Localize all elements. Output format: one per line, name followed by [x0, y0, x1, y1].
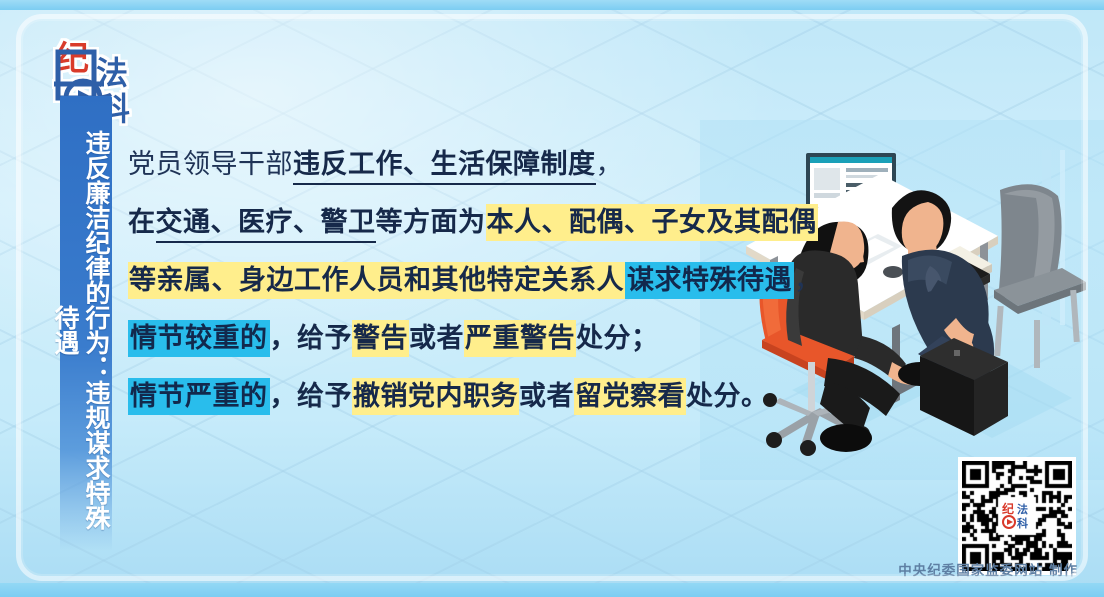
text-segment: 撤销党内职务 — [352, 378, 519, 415]
text-line: 党员领导干部违反工作、生活保障制度， — [128, 136, 828, 194]
vertical-banner-text: 违反廉洁纪律的行为：违规谋求特殊待遇 — [60, 130, 112, 530]
text-segment: 本人、配偶、子女及其配偶 — [486, 204, 818, 241]
text-segment: 处分。 — [686, 381, 769, 412]
text-segment: 情节严重的 — [128, 378, 270, 415]
text-segment: 等方面为 — [376, 207, 486, 238]
text-segment: ，给予 — [270, 323, 353, 354]
text-line: 情节较重的，给予警告或者严重警告处分； — [128, 310, 828, 368]
text-segment: 在 — [128, 207, 156, 238]
footer-credit: 中央纪委国家监委网站 制作 — [898, 559, 1078, 579]
text-segment: 违反工作、生活保障制度 — [293, 149, 596, 185]
svg-text:法: 法 — [1017, 502, 1028, 516]
text-segment: 党员领导干部 — [128, 149, 293, 180]
qr-code[interactable]: 纪 法 科 — [958, 457, 1076, 575]
text-segment: 情节较重的 — [128, 320, 270, 357]
text-segment: ，给予 — [270, 381, 353, 412]
text-segment: 处分； — [576, 323, 659, 354]
svg-text:纪: 纪 — [1002, 501, 1014, 516]
top-edge-bar — [0, 0, 1104, 10]
regulation-text-block: 党员领导干部违反工作、生活保障制度， 在交通、医疗、警卫等方面为本人、配偶、子女… — [128, 136, 828, 426]
text-segment: 警告 — [352, 320, 409, 357]
text-segment: 谋求特殊待遇 — [625, 262, 794, 299]
text-line: 在交通、医疗、警卫等方面为本人、配偶、子女及其配偶 — [128, 194, 828, 252]
svg-text:科: 科 — [1017, 516, 1028, 530]
text-line: 等亲属、身边工作人员和其他特定关系人谋求特殊待遇， — [128, 252, 828, 310]
text-segment: ， — [794, 265, 822, 296]
qr-center-logo: 纪 法 科 — [1000, 499, 1034, 533]
mouse — [883, 266, 903, 278]
text-segment: 等亲属、身边工作人员和其他特定关系人 — [128, 262, 625, 299]
text-segment: ， — [596, 149, 624, 180]
text-segment: 交通、医疗、警卫 — [156, 207, 376, 243]
poster-root: 纪 法 科 违反廉洁纪律的行为：违规谋求特殊待遇 党员领导干部违反工作、生活保障… — [0, 0, 1104, 597]
text-line: 情节严重的，给予撤销党内职务或者留党察看处分。 — [128, 368, 828, 426]
text-segment: 严重警告 — [464, 320, 576, 357]
text-segment: 或者 — [519, 381, 574, 412]
vertical-banner: 违反廉洁纪律的行为：违规谋求特殊待遇 — [60, 96, 112, 551]
grey-chair — [994, 184, 1086, 368]
bottom-edge-bar — [0, 583, 1104, 597]
text-segment: 或者 — [409, 323, 464, 354]
text-segment: 留党察看 — [574, 378, 686, 415]
